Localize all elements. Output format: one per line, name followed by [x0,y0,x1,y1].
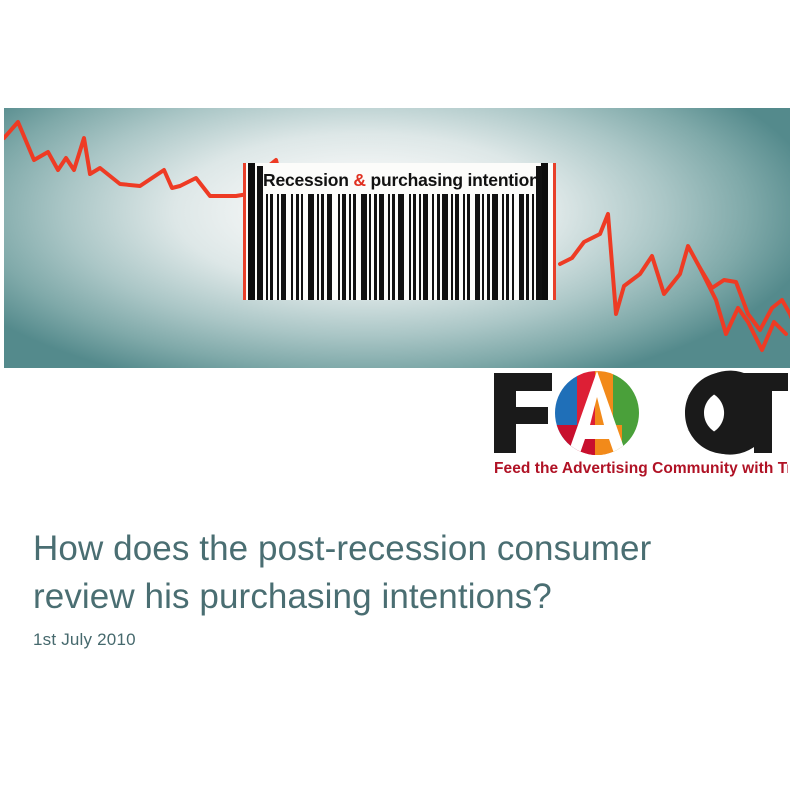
trend-line-tail [700,268,786,350]
fact-logo: Feed the Advertising Community with Tren… [492,369,788,477]
barcode-left-red-rule [243,163,246,300]
barcode-right-guard-bar [541,163,548,300]
barcode-title-ampersand: & [353,170,365,190]
logo-tagline: Feed the Advertising Community with Tren… [494,460,788,477]
page-title-line-2: review his purchasing intentions? [33,573,763,621]
barcode-left-guard-bar [248,163,255,300]
barcode-right-red-rule [553,163,556,300]
barcode-title-suffix: purchasing intention [366,170,540,190]
barcode-title-prefix: Recession [263,170,353,190]
logo-letter-f [494,373,552,453]
presentation-date: 1st July 2010 [33,630,136,650]
barcode-title-text: Recession & purchasing intention [263,166,535,194]
logo-emblem-a [555,371,641,461]
page-title-line-1: How does the post-recession consumer [33,525,763,573]
barcode-graphic: Recession & purchasing intention [243,163,556,300]
page-title: How does the post-recession consumer rev… [33,525,763,621]
